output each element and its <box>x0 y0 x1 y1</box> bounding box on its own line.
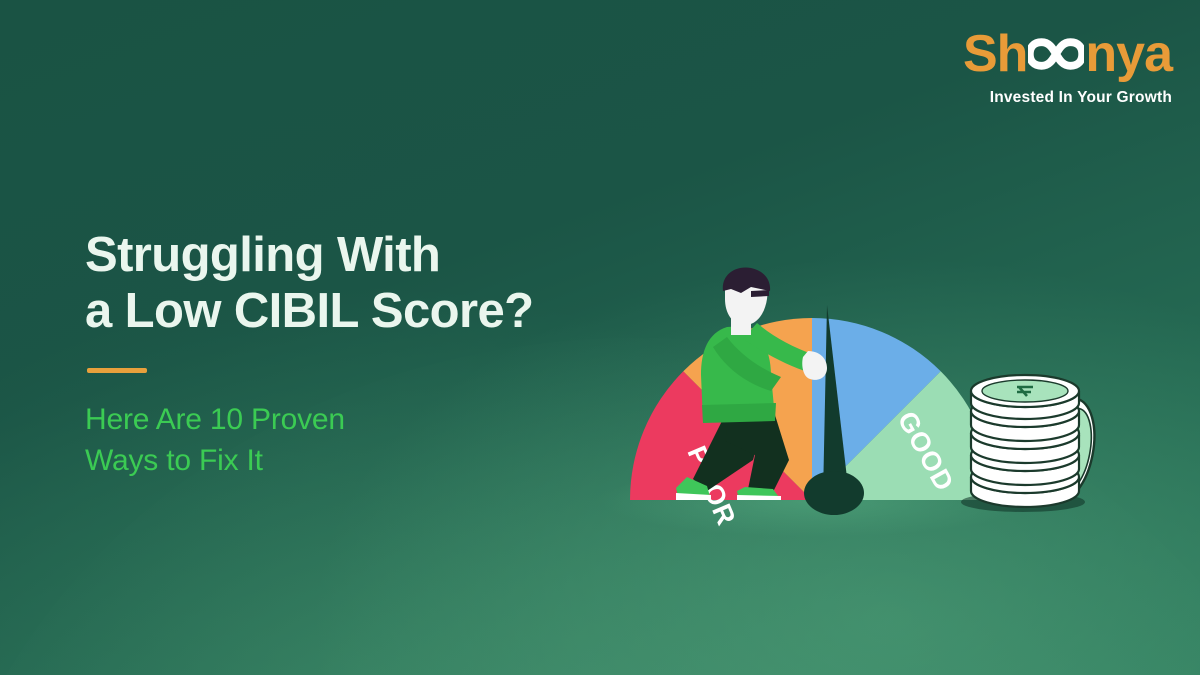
brand-logo-wordmark: Sh nya <box>963 28 1172 80</box>
brand-logo[interactable]: Sh nya Invested In Your Growth <box>963 28 1172 107</box>
coin-top <box>971 375 1079 419</box>
headline-line-1: Struggling With <box>85 228 440 282</box>
accent-divider <box>87 368 147 373</box>
person-hair <box>723 267 770 293</box>
subheadline-line-1: Here Are 10 Proven <box>85 403 345 436</box>
brand-logo-prefix: Sh <box>963 28 1027 80</box>
credit-score-gauge-illustration: POOR GOOD <box>575 255 1135 555</box>
brand-logo-suffix: nya <box>1085 28 1172 80</box>
promo-banner: Sh nya Invested In Your Growth Strugglin… <box>0 0 1200 675</box>
coin-stack <box>961 375 1102 512</box>
infinity-symbol-icon <box>1028 35 1084 73</box>
brand-tagline: Invested In Your Growth <box>963 89 1172 107</box>
